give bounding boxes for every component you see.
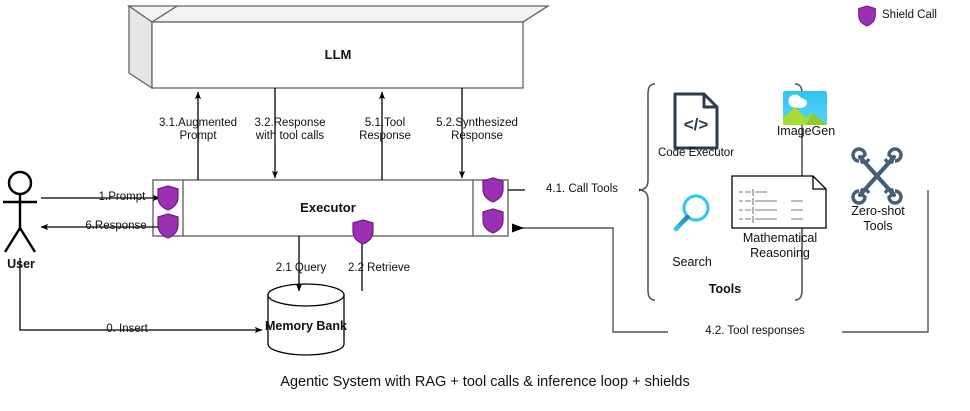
shield-icon — [351, 219, 375, 245]
edge-label-synthesized-response: 5.2.Synthesized Response — [417, 117, 537, 143]
edge-label-tool-response: 5.1.Tool Response — [342, 117, 428, 143]
shield-icon — [857, 5, 877, 27]
edge-label-insert: 0. Insert — [72, 323, 182, 336]
legend-shield-label: Shield Call — [882, 9, 970, 22]
shield-icon — [481, 208, 505, 234]
tool-label-math-reasoning: Mathematical Reasoning — [726, 231, 834, 261]
formula-document-icon — [731, 175, 827, 229]
tool-label-code-executor: Code Executor — [646, 147, 746, 160]
memory-bank-label: Memory Bank — [256, 320, 356, 333]
magnifier-icon — [671, 192, 713, 236]
edge-label-call-tools: 4.1. Call Tools — [525, 183, 639, 196]
code-document-icon: </> — [672, 92, 720, 150]
tool-label-imagegen: ImageGen — [768, 125, 844, 138]
crossed-wrenches-icon — [851, 148, 903, 204]
diagram-caption: Agentic System with RAG + tool calls & i… — [0, 374, 970, 390]
edge-label-retrieve: 2.2 Retrieve — [335, 262, 423, 275]
edge-label-prompt: 1.Prompt — [82, 191, 162, 204]
shield-icon — [156, 213, 180, 239]
architecture-diagram: LLM Executor Memory Bank User Tools 1.Pr… — [0, 0, 970, 411]
edge-label-response-tool-calls: 3.2.Response with tool calls — [232, 117, 348, 143]
edge-label-tool-responses: 4.2. Tool responses — [668, 325, 842, 338]
user-actor — [3, 172, 37, 252]
svg-text:</>: </> — [684, 115, 709, 134]
shield-icon — [481, 177, 505, 203]
tool-label-search: Search — [660, 256, 724, 269]
edge-label-query: 2.1 Query — [262, 262, 340, 275]
tool-label-zero-shot-tools: Zero-shot Tools — [841, 204, 915, 234]
shield-icon — [156, 185, 180, 211]
image-picture-icon — [782, 90, 828, 126]
edge-insert — [20, 258, 262, 330]
llm-label: LLM — [288, 48, 388, 61]
edge-label-response: 6.Response — [70, 220, 162, 233]
tools-group-label: Tools — [680, 283, 770, 296]
executor-label: Executor — [278, 201, 378, 214]
user-label: User — [0, 258, 47, 271]
